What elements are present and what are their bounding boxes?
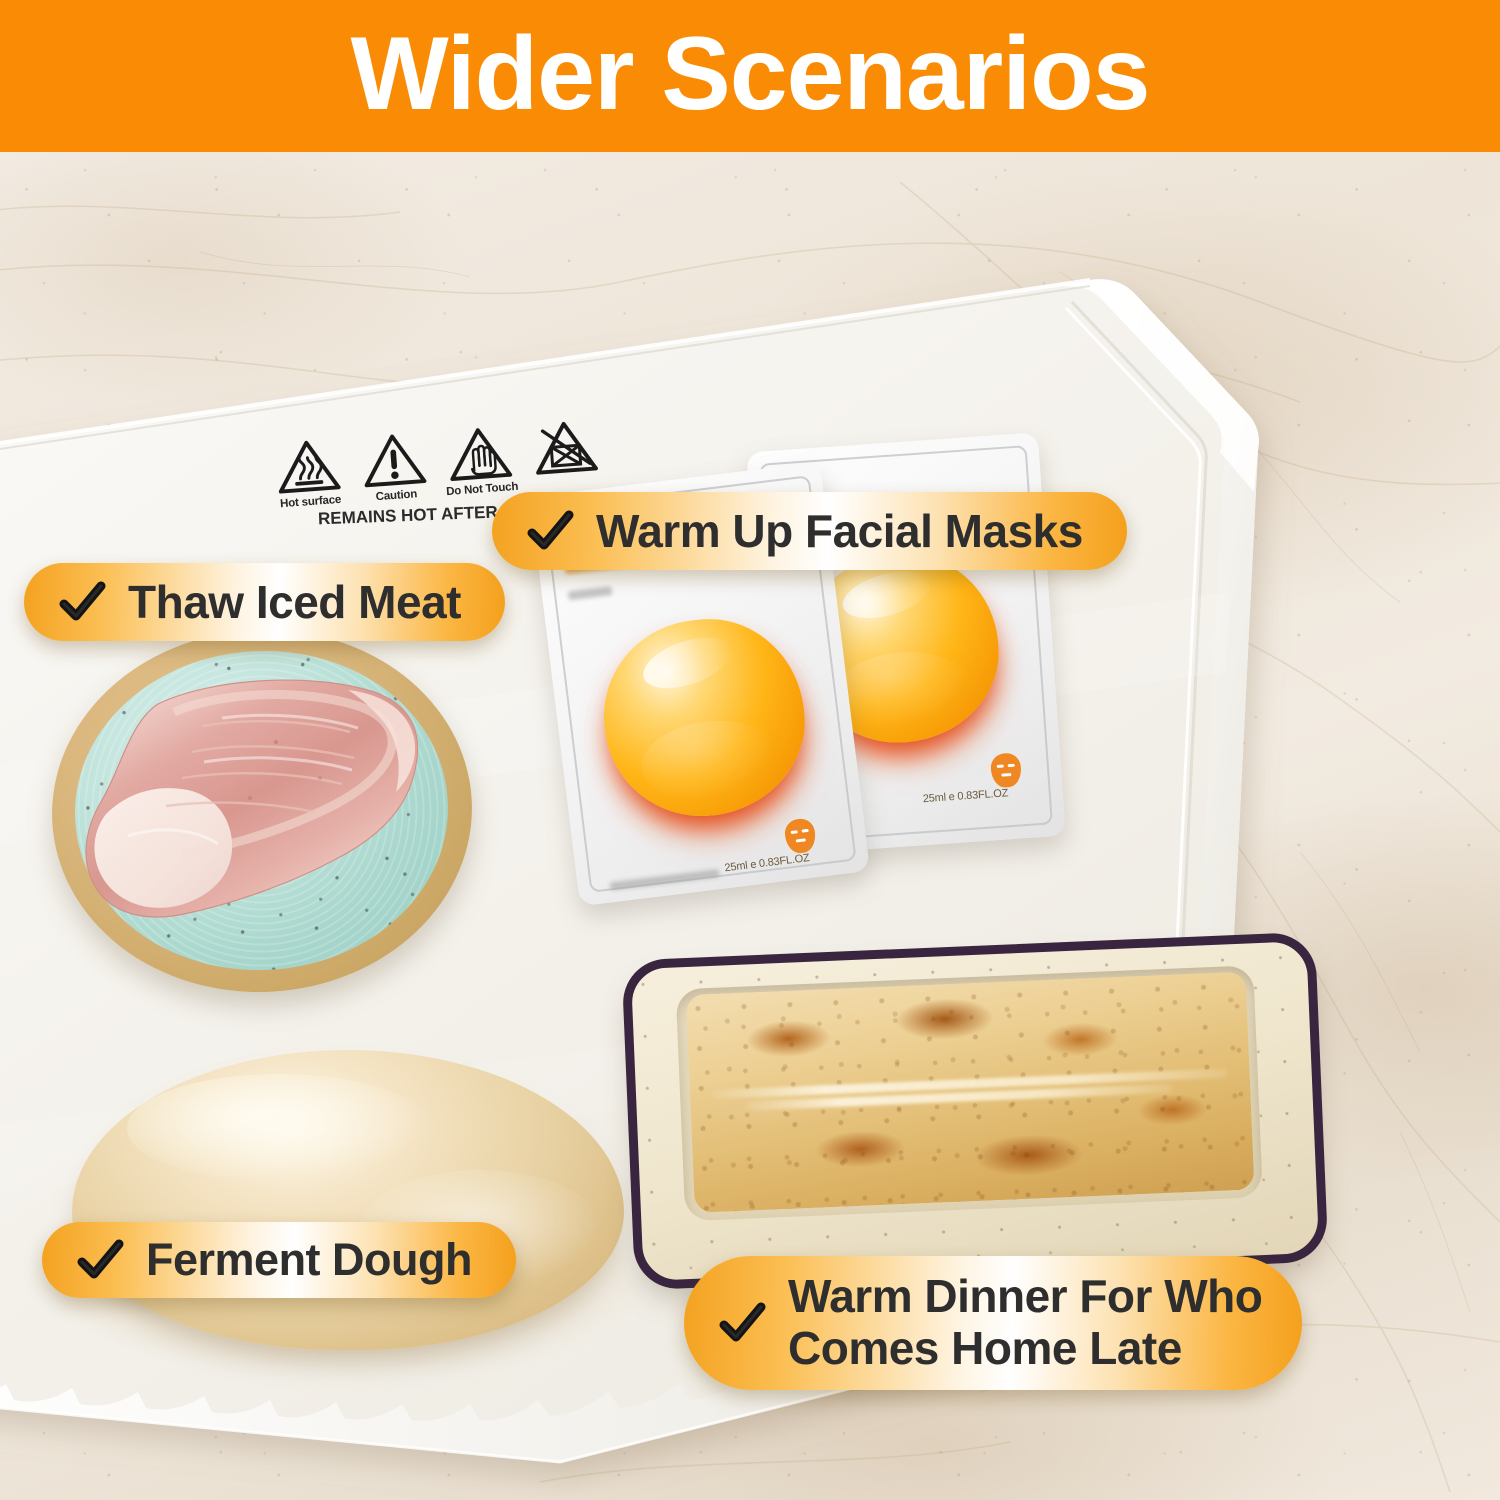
check-icon — [58, 578, 106, 626]
check-icon — [526, 507, 574, 555]
product-infographic: Hot surface Caution — [0, 0, 1500, 1500]
baking-dish — [621, 932, 1328, 1291]
caution-icon — [359, 429, 429, 492]
page-title: Wider Scenarios — [350, 22, 1149, 126]
check-icon — [718, 1299, 766, 1347]
dough-ball — [72, 1050, 624, 1350]
feature-badge-thaw-iced-meat[interactable]: Thaw Iced Meat — [24, 563, 505, 641]
warning-item-do-not-touch: Do Not Touch — [440, 422, 521, 499]
feature-badge-label: Warm Dinner For Who Comes Home Late — [788, 1271, 1262, 1374]
dish-cavity — [676, 965, 1263, 1221]
feature-badge-label: Ferment Dough — [146, 1236, 472, 1284]
hot-surface-icon — [273, 435, 343, 498]
check-icon — [76, 1236, 124, 1284]
feature-badge-label: Warm Up Facial Masks — [596, 507, 1083, 556]
feature-badge-warm-dinner[interactable]: Warm Dinner For Who Comes Home Late — [684, 1256, 1302, 1390]
warning-item-hot-surface: Hot surface — [268, 434, 349, 511]
feature-badge-warm-up-facial-masks[interactable]: Warm Up Facial Masks — [492, 492, 1127, 570]
feature-badge-ferment-dough[interactable]: Ferment Dough — [42, 1222, 516, 1298]
frozen-pork-chop — [62, 666, 434, 944]
warning-item-caution: Caution — [354, 428, 435, 505]
do-not-touch-icon — [445, 422, 515, 485]
casserole-dish-scene — [622, 942, 1322, 1282]
plate-with-frozen-meat — [38, 626, 484, 996]
feature-badge-label: Thaw Iced Meat — [128, 578, 461, 627]
header-banner: Wider Scenarios — [0, 0, 1500, 152]
baked-lasagna — [686, 972, 1255, 1213]
dough-ball-scene — [58, 1046, 638, 1376]
